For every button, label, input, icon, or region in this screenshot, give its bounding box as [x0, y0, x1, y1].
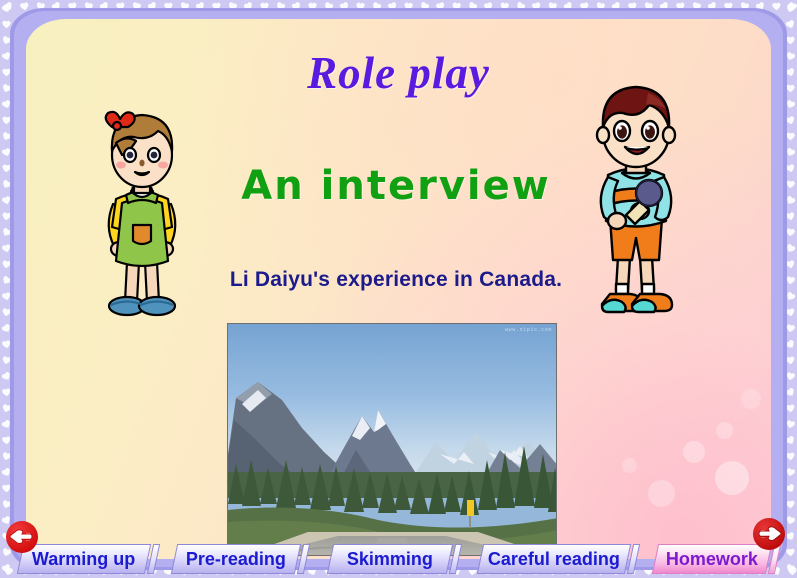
- slide-content-area: Role play An interview Li Daiyu's experi…: [26, 19, 771, 559]
- activity-subtitle: An interview: [186, 163, 606, 209]
- bokeh-circle: [716, 422, 733, 439]
- canada-landscape-photo: www.nipic.com: [227, 323, 557, 556]
- bokeh-circle: [683, 441, 705, 463]
- activity-caption: Li Daiyu's experience in Canada.: [176, 268, 616, 292]
- nav-item-label: Warming up: [32, 549, 135, 570]
- nav-item-label: Pre-reading: [186, 549, 286, 570]
- nav-item-pre-reading[interactable]: Pre-reading: [171, 544, 301, 574]
- hand-pointing-right-icon: [753, 518, 785, 550]
- photo-watermark: www.nipic.com: [505, 327, 552, 333]
- bokeh-circle: [741, 389, 761, 409]
- previous-slide-button[interactable]: [6, 521, 38, 553]
- nav-item-label: Homework: [666, 549, 758, 570]
- nav-item-label: Careful reading: [488, 549, 620, 570]
- nav-item-skimming[interactable]: Skimming: [327, 544, 453, 574]
- nav-item-careful-reading[interactable]: Careful reading: [477, 544, 631, 574]
- bokeh-circle: [715, 461, 749, 495]
- bokeh-circle: [622, 458, 637, 473]
- slide-root: Role play An interview Li Daiyu's experi…: [0, 0, 797, 578]
- hand-pointing-left-icon: [6, 521, 38, 553]
- photo-content: [228, 324, 557, 556]
- cartoon-girl-illustration: [82, 99, 202, 324]
- nav-item-label: Skimming: [347, 549, 433, 570]
- bottom-navigation: Warming upPre-readingSkimmingCareful rea…: [0, 536, 797, 578]
- bokeh-circle: [648, 480, 675, 507]
- cartoon-boy-illustration: [570, 75, 700, 325]
- next-slide-button[interactable]: [753, 518, 785, 550]
